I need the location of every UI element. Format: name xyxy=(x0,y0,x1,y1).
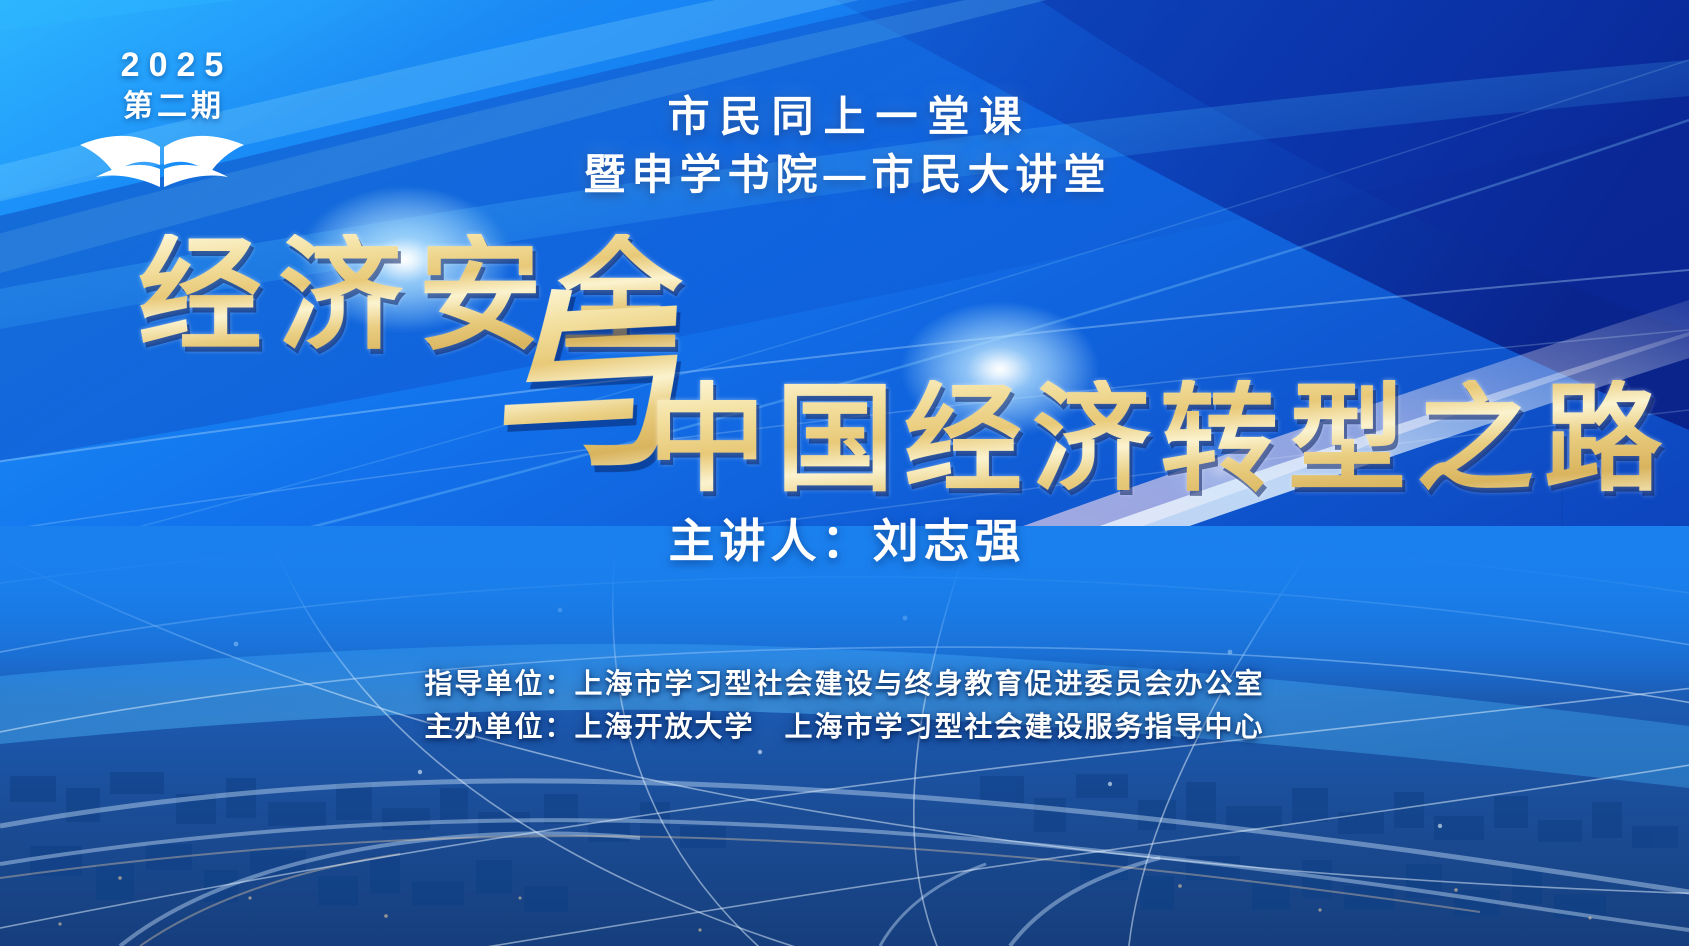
poster-canvas: 2025 第二期 市民同上一堂课 暨申学书院—市民大讲堂 经济安全 与 中国经济… xyxy=(0,0,1689,946)
open-book-icon xyxy=(72,131,252,187)
footer-line-guidance: 指导单位：上海市学习型社会建设与终身教育促进委员会办公室 xyxy=(0,663,1689,706)
series-badge: 2025 第二期 xyxy=(72,48,272,187)
badge-year: 2025 xyxy=(72,48,272,82)
footer-line-organizer: 主办单位：上海开放大学 上海市学习型社会建设服务指导中心 xyxy=(0,706,1689,749)
badge-issue: 第二期 xyxy=(72,92,272,122)
organizer-footer: 指导单位：上海市学习型社会建设与终身教育促进委员会办公室 主办单位：上海开放大学… xyxy=(0,663,1689,748)
main-title: 经济安全 与 中国经济转型之路 xyxy=(0,228,1689,498)
speaker-line: 主讲人：刘志强 xyxy=(0,505,1689,571)
title-part-2: 中国经济转型之路 xyxy=(648,380,1672,498)
